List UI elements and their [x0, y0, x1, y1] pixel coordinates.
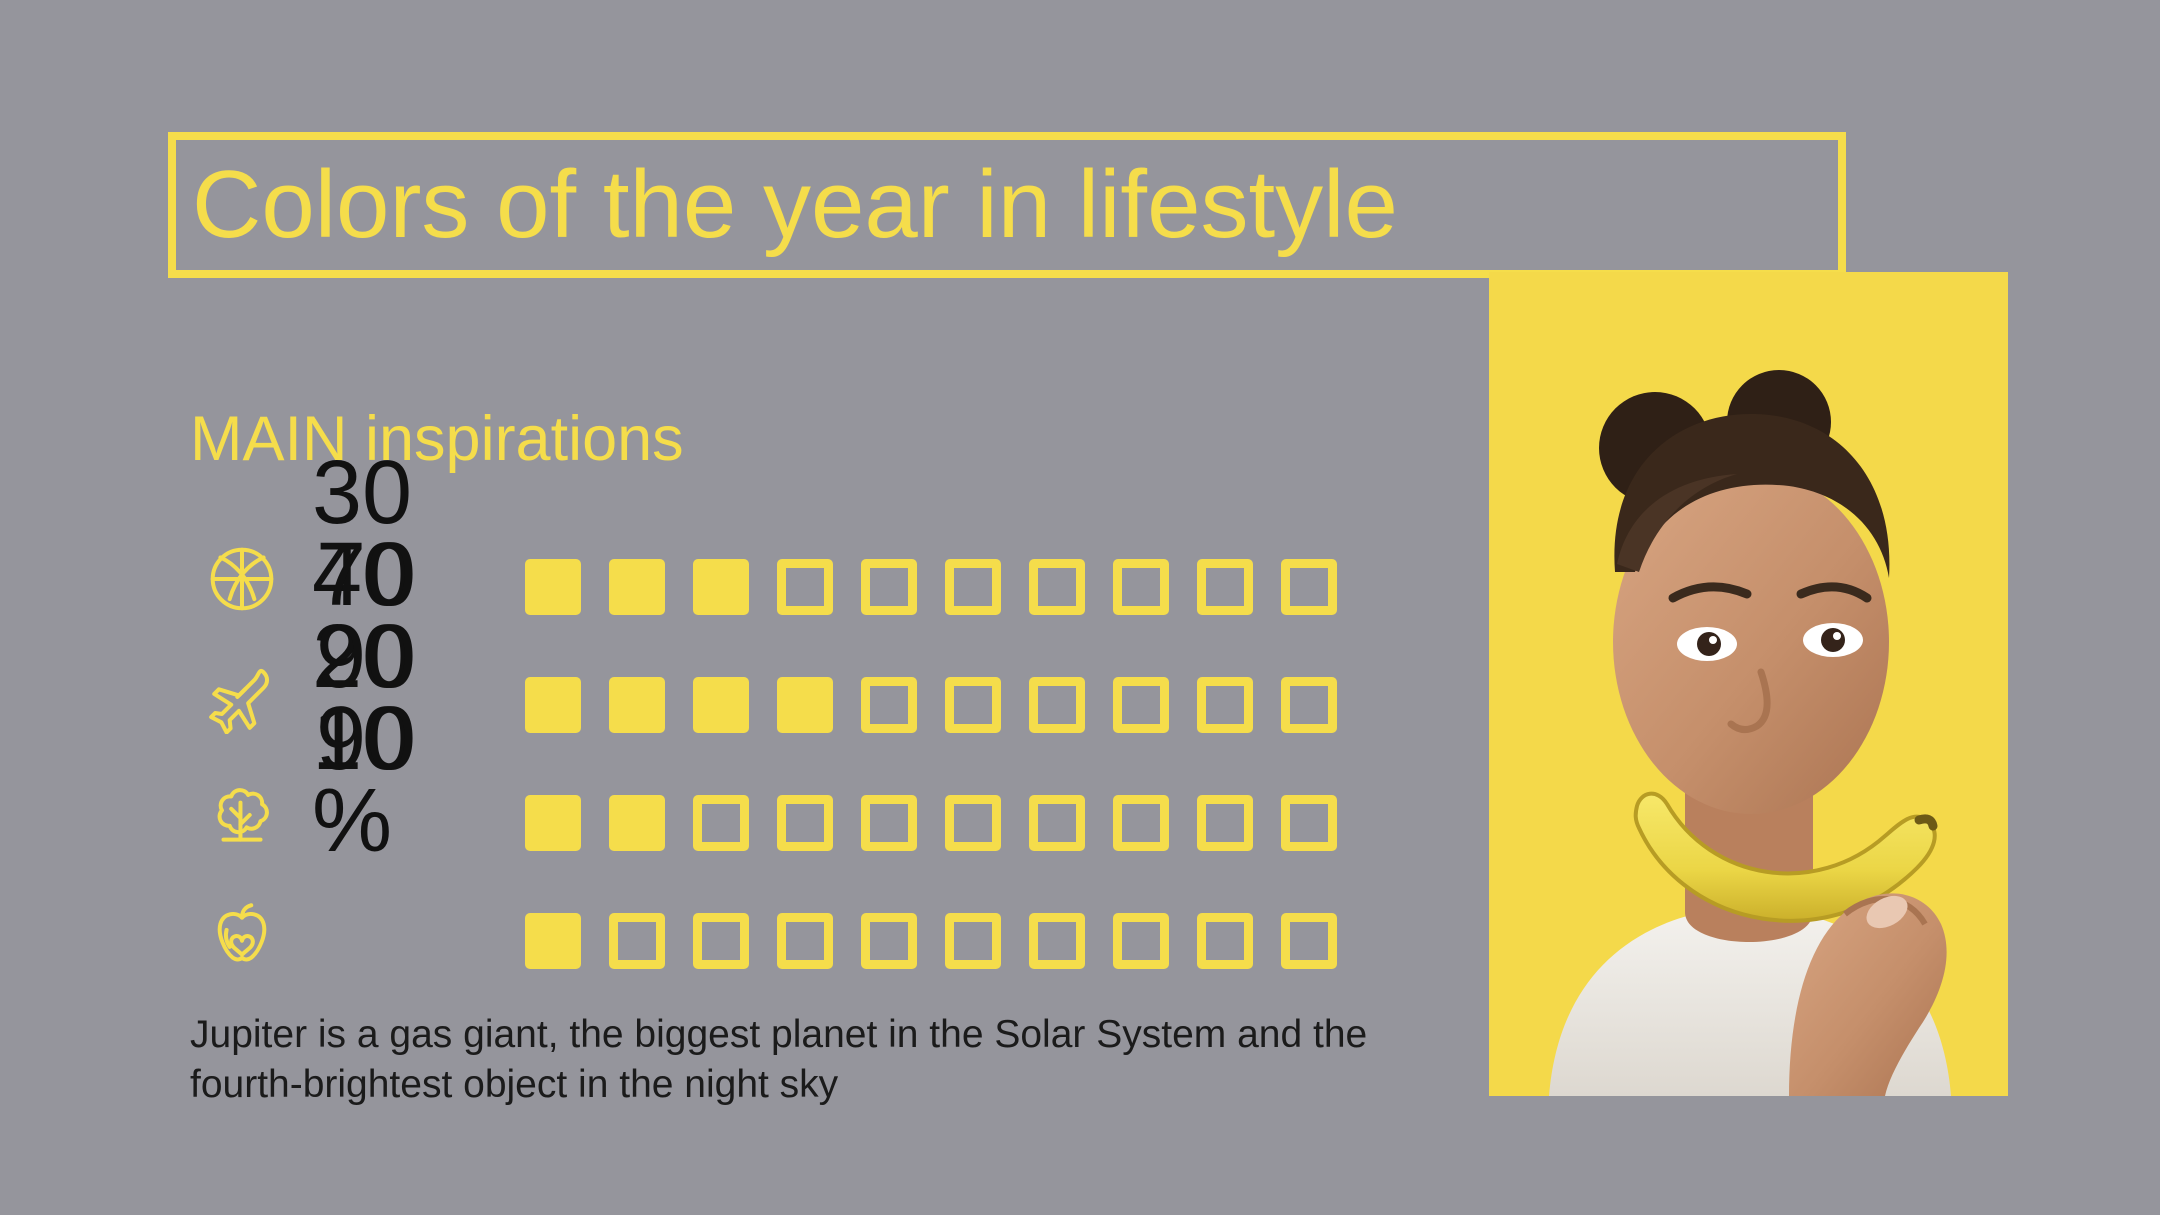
progress-row [525, 882, 1337, 1000]
progress-square-filled [525, 677, 581, 733]
progress-square-empty [945, 913, 1001, 969]
progress-square-empty [1281, 559, 1337, 615]
woman-holding-banana-smile-photo [1489, 272, 2008, 1096]
progress-square-filled [525, 559, 581, 615]
stat-icon-cell [196, 520, 288, 638]
stat-number: 20 90 [312, 616, 452, 698]
stat-icon-column [196, 520, 288, 992]
progress-square-empty [861, 913, 917, 969]
progress-square-empty [1281, 677, 1337, 733]
progress-square-filled [609, 677, 665, 733]
caption-text: Jupiter is a gas giant, the biggest plan… [190, 1010, 1420, 1110]
progress-square-empty [1281, 913, 1337, 969]
stat-unit-line: % [312, 780, 452, 862]
progress-square-empty [945, 677, 1001, 733]
stat-number-column: 30 40 70 20 90 10 90 % [312, 452, 452, 862]
slide-root: Colors of the year in lifestyle [0, 0, 2160, 1215]
progress-square-filled [777, 677, 833, 733]
progress-square-empty [1197, 795, 1253, 851]
stat-number-overlap: 70 [316, 534, 416, 616]
progress-square-empty [1197, 677, 1253, 733]
progress-square-empty [693, 913, 749, 969]
progress-square-empty [861, 795, 917, 851]
progress-row [525, 528, 1337, 646]
page-title: Colors of the year in lifestyle [192, 140, 1842, 270]
stat-number-overlap: 90 [316, 698, 416, 780]
progress-square-empty [609, 913, 665, 969]
stat-number-value: 30 [312, 452, 412, 534]
airplane-icon [205, 660, 279, 734]
stat-number: 10 90 [312, 698, 452, 780]
progress-square-empty [1113, 559, 1169, 615]
progress-square-filled [525, 913, 581, 969]
stat-icon-cell [196, 638, 288, 756]
progress-square-empty [777, 559, 833, 615]
progress-square-empty [1029, 795, 1085, 851]
stat-icon-cell [196, 874, 288, 992]
progress-square-empty [777, 795, 833, 851]
stat-number: 40 70 [312, 534, 452, 616]
stat-unit: % [312, 780, 392, 862]
progress-square-filled [693, 677, 749, 733]
basketball-icon [205, 542, 279, 616]
progress-square-empty [777, 913, 833, 969]
progress-square-filled [693, 559, 749, 615]
progress-square-empty [1197, 913, 1253, 969]
hero-photo [1489, 272, 2008, 1096]
progress-square-empty [1113, 795, 1169, 851]
progress-square-empty [1113, 913, 1169, 969]
progress-square-empty [1197, 559, 1253, 615]
tree-icon [205, 778, 279, 852]
progress-square-empty [861, 677, 917, 733]
progress-square-empty [1113, 677, 1169, 733]
stat-icon-cell [196, 756, 288, 874]
progress-square-filled [609, 795, 665, 851]
progress-row [525, 764, 1337, 882]
progress-square-empty [861, 559, 917, 615]
progress-row [525, 646, 1337, 764]
progress-square-empty [1029, 559, 1085, 615]
progress-square-empty [1281, 795, 1337, 851]
progress-square-empty [945, 795, 1001, 851]
apple-heart-icon [205, 896, 279, 970]
progress-square-filled [609, 559, 665, 615]
progress-square-empty [1029, 677, 1085, 733]
progress-square-empty [945, 559, 1001, 615]
stat-number: 30 [312, 452, 452, 534]
stat-number-overlap: 90 [316, 616, 416, 698]
progress-square-filled [525, 795, 581, 851]
progress-grid [525, 528, 1337, 1000]
progress-square-empty [1029, 913, 1085, 969]
progress-square-empty [693, 795, 749, 851]
